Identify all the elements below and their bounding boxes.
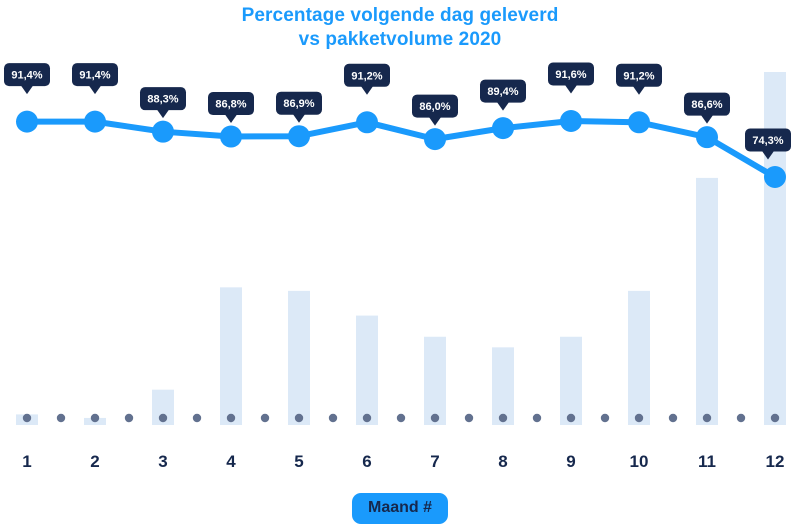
data-label-text: 91,4% xyxy=(79,70,110,82)
baseline-dot xyxy=(397,414,405,422)
data-label-text: 86,9% xyxy=(283,98,314,110)
data-label-text: 86,8% xyxy=(215,99,246,111)
data-label-text: 89,4% xyxy=(487,86,518,98)
x-tick-2: 2 xyxy=(90,452,99,472)
baseline-dot xyxy=(159,414,167,422)
data-label-8: 89,4% xyxy=(480,80,526,111)
marker-2[interactable] xyxy=(84,111,106,133)
baseline-dot xyxy=(533,414,541,422)
line-series-percentage xyxy=(27,121,775,177)
x-tick-9: 9 xyxy=(566,452,575,472)
data-label-tooltips: 91,4%91,4%88,3%86,8%86,9%91,2%86,0%89,4%… xyxy=(4,63,791,160)
line-markers xyxy=(16,110,786,188)
bar-4 xyxy=(220,287,242,425)
data-label-text: 74,3% xyxy=(752,135,783,147)
data-label-text: 91,2% xyxy=(351,70,382,82)
baseline-dot xyxy=(227,414,235,422)
data-label-2: 91,4% xyxy=(72,63,118,94)
data-label-pointer xyxy=(225,115,237,124)
data-label-3: 88,3% xyxy=(140,87,186,118)
baseline-dot xyxy=(329,414,337,422)
marker-12[interactable] xyxy=(764,166,786,188)
bar-8 xyxy=(492,347,514,425)
data-label-text: 86,6% xyxy=(691,99,722,111)
marker-1[interactable] xyxy=(16,111,38,133)
bar-12 xyxy=(764,72,786,425)
data-label-pointer xyxy=(429,117,441,126)
bar-9 xyxy=(560,337,582,425)
baseline-dot xyxy=(57,414,65,422)
data-label-text: 91,6% xyxy=(555,69,586,81)
x-tick-4: 4 xyxy=(226,452,235,472)
marker-7[interactable] xyxy=(424,128,446,150)
x-tick-3: 3 xyxy=(158,452,167,472)
marker-5[interactable] xyxy=(288,125,310,147)
line-path xyxy=(27,121,775,177)
baseline-dot xyxy=(567,414,575,422)
baseline-dot xyxy=(261,414,269,422)
baseline-dot xyxy=(465,414,473,422)
baseline-dot xyxy=(635,414,643,422)
data-label-text: 91,4% xyxy=(11,70,42,82)
baseline-dot xyxy=(295,414,303,422)
bar-7 xyxy=(424,337,446,425)
x-tick-10: 10 xyxy=(630,452,649,472)
baseline-dot xyxy=(703,414,711,422)
x-axis-title-badge: Maand # xyxy=(352,493,448,524)
data-label-7: 86,0% xyxy=(412,95,458,126)
x-tick-5: 5 xyxy=(294,452,303,472)
marker-10[interactable] xyxy=(628,111,650,133)
marker-9[interactable] xyxy=(560,110,582,132)
data-label-pointer xyxy=(89,86,101,95)
baseline-dot xyxy=(91,414,99,422)
baseline-dot xyxy=(499,414,507,422)
data-label-text: 86,0% xyxy=(419,101,450,113)
baseline-dot xyxy=(771,414,779,422)
data-label-pointer xyxy=(21,86,33,95)
baseline-dot-row xyxy=(23,414,779,422)
baseline-dot xyxy=(23,414,31,422)
data-label-4: 86,8% xyxy=(208,92,254,123)
marker-4[interactable] xyxy=(220,126,242,148)
bar-10 xyxy=(628,291,650,425)
data-label-9: 91,6% xyxy=(548,63,594,94)
x-axis-tick-labels: 123456789101112 xyxy=(0,452,800,478)
chart-container: Percentage volgende dag geleverd vs pakk… xyxy=(0,0,800,532)
data-label-pointer xyxy=(633,86,645,95)
data-label-text: 88,3% xyxy=(147,94,178,106)
baseline-dot xyxy=(601,414,609,422)
data-label-1: 91,4% xyxy=(4,63,50,94)
data-label-text: 91,2% xyxy=(623,70,654,82)
data-label-10: 91,2% xyxy=(616,64,662,95)
marker-8[interactable] xyxy=(492,117,514,139)
x-tick-6: 6 xyxy=(362,452,371,472)
baseline-dot xyxy=(737,414,745,422)
data-label-6: 91,2% xyxy=(344,64,390,95)
x-tick-1: 1 xyxy=(22,452,31,472)
data-label-pointer xyxy=(701,115,713,124)
data-label-11: 86,6% xyxy=(684,93,730,124)
x-tick-12: 12 xyxy=(766,452,785,472)
baseline-dot xyxy=(125,414,133,422)
data-label-pointer xyxy=(361,86,373,95)
x-tick-8: 8 xyxy=(498,452,507,472)
data-label-5: 86,9% xyxy=(276,92,322,123)
bar-5 xyxy=(288,291,310,425)
bar-6 xyxy=(356,316,378,425)
data-label-pointer xyxy=(565,85,577,94)
baseline-dot xyxy=(669,414,677,422)
baseline-dot xyxy=(193,414,201,422)
x-tick-7: 7 xyxy=(430,452,439,472)
bar-11 xyxy=(696,178,718,425)
data-label-pointer xyxy=(157,110,169,119)
x-tick-11: 11 xyxy=(698,452,716,472)
data-label-pointer xyxy=(497,102,509,111)
marker-3[interactable] xyxy=(152,121,174,143)
marker-6[interactable] xyxy=(356,111,378,133)
baseline-dot xyxy=(431,414,439,422)
baseline-dot xyxy=(363,414,371,422)
marker-11[interactable] xyxy=(696,126,718,148)
data-label-pointer xyxy=(293,114,305,123)
